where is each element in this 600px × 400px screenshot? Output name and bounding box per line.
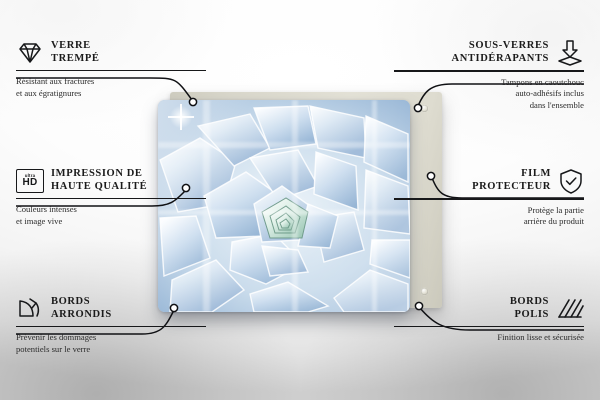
- feature-title: IMPRESSION DE HAUTE QUALITÉ: [51, 168, 147, 194]
- feature-title: VERRE TREMPÉ: [51, 40, 100, 66]
- feature-rule: [16, 198, 206, 200]
- mount-hole-bottom-right: [421, 288, 428, 295]
- feature-description: Résistant aux fractures et aux égratignu…: [16, 76, 206, 99]
- feature-rule: [394, 326, 584, 328]
- ultra-hd-badge-icon: ultra HD: [16, 169, 44, 193]
- sparkle-icon: [168, 104, 194, 130]
- feature-description: Protège la partie arrière du produit: [394, 205, 584, 228]
- feature-title: BORDS POLIS: [510, 296, 549, 322]
- feature-impression-haute-qualite: ultra HD IMPRESSION DE HAUTE QUALITÉ Cou…: [16, 168, 206, 227]
- feature-rule: [394, 198, 584, 200]
- feature-bords-polis: BORDS POLIS Finition lisse et sécurisée: [394, 296, 584, 344]
- feature-title: FILM PROTECTEUR: [472, 168, 551, 194]
- shield-check-icon: [558, 168, 584, 194]
- hd-label: HD: [22, 178, 37, 188]
- feature-description: Prévenir les dommages potentiels sur le …: [16, 332, 206, 355]
- feature-rule: [16, 70, 206, 72]
- feature-rule: [394, 70, 584, 72]
- feature-description: Tampons en caoutchouc auto-adhésifs incl…: [394, 77, 584, 112]
- feature-verre-trempe: VERRE TREMPÉ Résistant aux fractures et …: [16, 40, 206, 99]
- rounded-corner-icon: [16, 297, 44, 321]
- feature-title: SOUS-VERRES ANTIDÉRAPANTS: [452, 40, 549, 66]
- polished-edge-lines-icon: [556, 297, 584, 321]
- product-infographic: VERRE TREMPÉ Résistant aux fractures et …: [0, 0, 600, 400]
- feature-description: Finition lisse et sécurisée: [394, 332, 584, 344]
- feature-description: Couleurs intenses et image vive: [16, 204, 206, 227]
- feature-title: BORDS ARRONDIS: [51, 296, 112, 322]
- diamond-icon: [16, 41, 44, 65]
- feature-rule: [16, 326, 206, 328]
- press-pad-icon: [556, 40, 584, 66]
- feature-sous-verres-antiderapants: SOUS-VERRES ANTIDÉRAPANTS Tampons en cao…: [394, 40, 584, 111]
- feature-film-protecteur: FILM PROTECTEUR Protège la partie arrièr…: [394, 168, 584, 228]
- feature-bords-arrondis: BORDS ARRONDIS Prévenir les dommages pot…: [16, 296, 206, 355]
